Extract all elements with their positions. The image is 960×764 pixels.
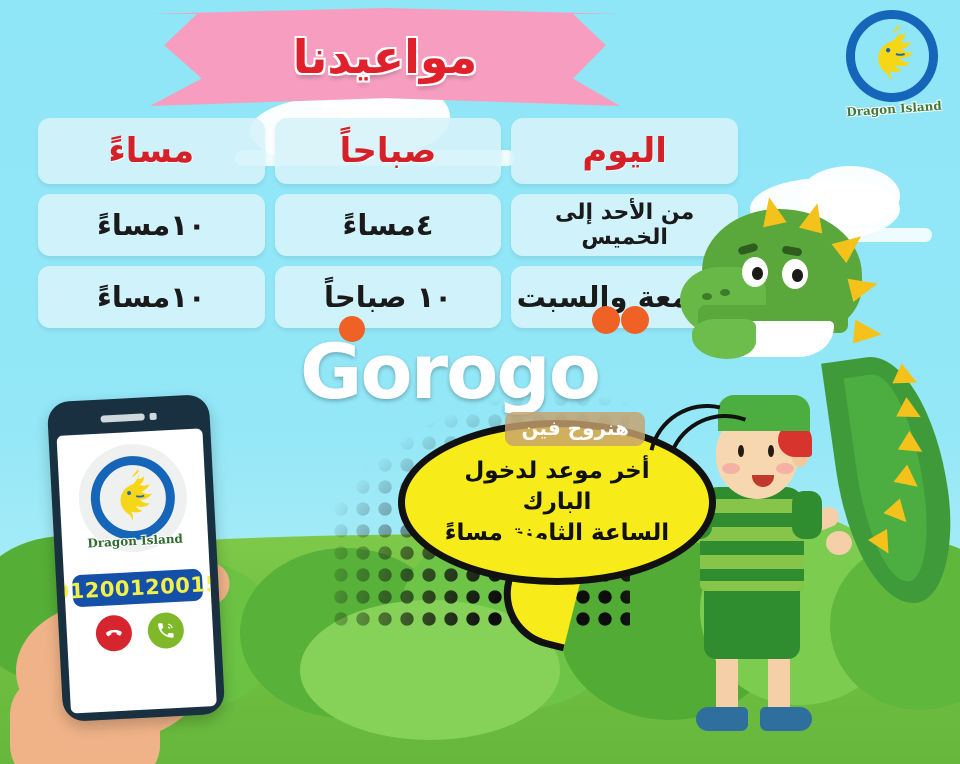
header-cell-day: اليوم [511, 118, 738, 184]
accept-call-button[interactable] [147, 612, 185, 650]
brand-name-label: Dragon Island [846, 99, 942, 120]
boy-shoe-left [696, 707, 748, 731]
camera-dot-icon [149, 413, 156, 420]
phone-logo-ring [89, 454, 177, 542]
brand-logo: Dragon Island [838, 6, 950, 118]
morning-value-1: ٤مساءً [343, 208, 434, 242]
header-label-day: اليوم [582, 131, 667, 171]
boy-shoe-right [760, 707, 812, 731]
phone-number: 01200120015 [57, 572, 217, 605]
watermark-dot-1 [592, 306, 620, 334]
phone-speaker [101, 413, 157, 423]
watermark-dot-3 [339, 316, 365, 342]
phone-call-icon [155, 620, 176, 641]
phone-hangup-icon [103, 623, 124, 644]
decline-call-button[interactable] [95, 614, 133, 652]
phone-logo: Dragon Island [76, 441, 190, 555]
poster: مواعيدنا اليوم صباحاً مساءً من الأحد إلى… [0, 0, 960, 764]
boy-sleeve-right [792, 491, 822, 539]
banner-ribbon: مواعيدنا [150, 8, 620, 113]
phone-logo-name: Dragon Island [87, 532, 183, 551]
phone-number-pill: 01200120015 [72, 569, 203, 608]
cell-morning-1: ٤مساءً [275, 194, 502, 256]
phone-screen: Dragon Island 01200120015 [57, 428, 217, 713]
cell-evening-1: ١٠مساءً [38, 194, 265, 256]
dragon-head-icon [103, 469, 162, 528]
cell-evening-2: ١٠مساءً [38, 266, 265, 328]
table-header-row: اليوم صباحاً مساءً [38, 118, 738, 184]
phone-mockup: Dragon Island 01200120015 [47, 394, 226, 722]
speaker-bar-icon [101, 413, 145, 422]
dragon-head-icon [861, 25, 923, 87]
evening-value-2: ١٠مساءً [97, 280, 206, 314]
header-cell-morning: صباحاً [275, 118, 502, 184]
table-row: من الأحد إلى الخميس ٤مساءً ١٠مساءً [38, 194, 738, 256]
brand-logo-ring [846, 10, 938, 102]
dragon-head [680, 201, 870, 401]
call-actions [95, 612, 185, 653]
boy-hand-right [826, 531, 852, 555]
header-label-evening: مساءً [108, 131, 194, 171]
watermark-dot-2 [621, 306, 649, 334]
evening-value-1: ١٠مساءً [97, 208, 206, 242]
notice-speech-bubble: أخر موعد لدخول البارك الساعة الثامنة مسا… [398, 420, 728, 640]
page-title: مواعيدنا [150, 8, 620, 106]
header-cell-evening: مساءً [38, 118, 265, 184]
schedule-table: اليوم صباحاً مساءً من الأحد إلى الخميس ٤… [38, 118, 738, 328]
header-label-morning: صباحاً [340, 131, 437, 171]
